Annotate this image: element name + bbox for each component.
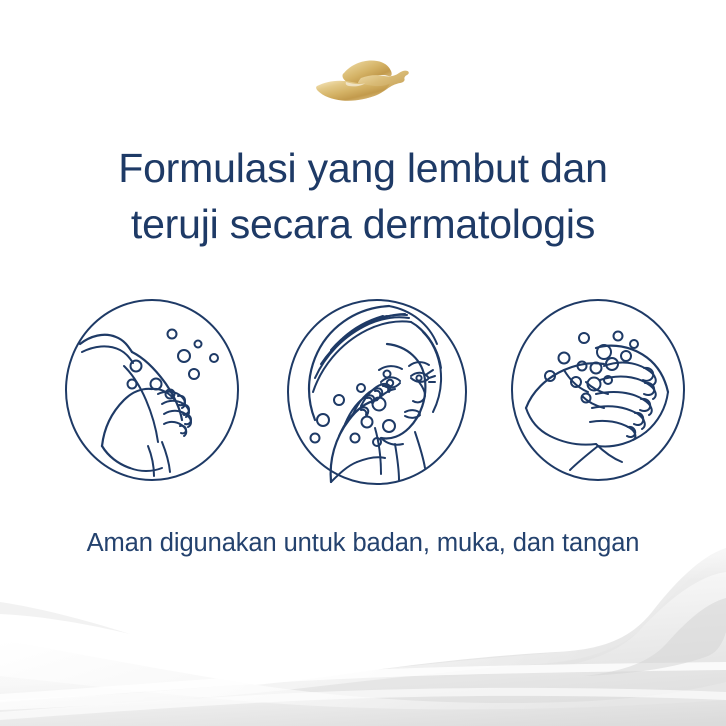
dove-bird-logo bbox=[313, 58, 413, 104]
woman-washing-face-icon bbox=[283, 296, 471, 488]
hands-washing-icon bbox=[508, 296, 688, 484]
headline-line-1: Formulasi yang lembut dan bbox=[0, 140, 726, 196]
headline-line-2: teruji secara dermatologis bbox=[0, 196, 726, 252]
banner-canvas: Formulasi yang lembut dan teruji secara … bbox=[0, 0, 726, 726]
benefit-icon-row bbox=[0, 296, 726, 488]
benefit-caption: Aman digunakan untuk badan, muka, dan ta… bbox=[0, 527, 726, 559]
hand-washing-body-icon bbox=[62, 296, 242, 484]
page-headline: Formulasi yang lembut dan teruji secara … bbox=[0, 140, 726, 252]
